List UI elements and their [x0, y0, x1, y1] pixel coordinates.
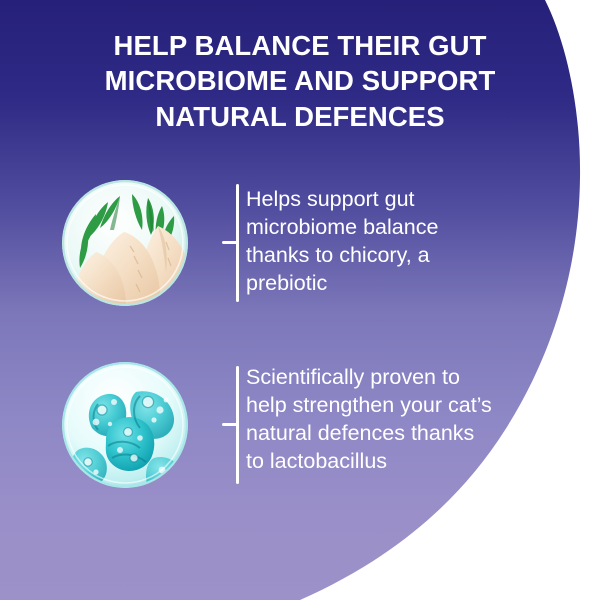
- marketing-graphic-panel: HELP BALANCE THEIR GUT MICROBIOME AND SU…: [0, 0, 600, 600]
- connector-horizontal-tick: [222, 423, 238, 426]
- headline: HELP BALANCE THEIR GUT MICROBIOME AND SU…: [65, 28, 535, 134]
- benefit-text-lactobacillus: Scientifically proven to help strengthen…: [246, 364, 496, 476]
- chicory-root-petri-dish-icon: [62, 180, 188, 306]
- connector-horizontal-tick: [222, 241, 238, 244]
- headline-line-3: NATURAL DEFENCES: [65, 99, 535, 134]
- headline-line-2: MICROBIOME AND SUPPORT: [65, 63, 535, 98]
- lactobacillus-gel-petri-dish-icon: [62, 362, 188, 488]
- benefit-text-chicory: Helps support gut microbiome balance tha…: [246, 186, 496, 298]
- headline-line-1: HELP BALANCE THEIR GUT: [65, 28, 535, 63]
